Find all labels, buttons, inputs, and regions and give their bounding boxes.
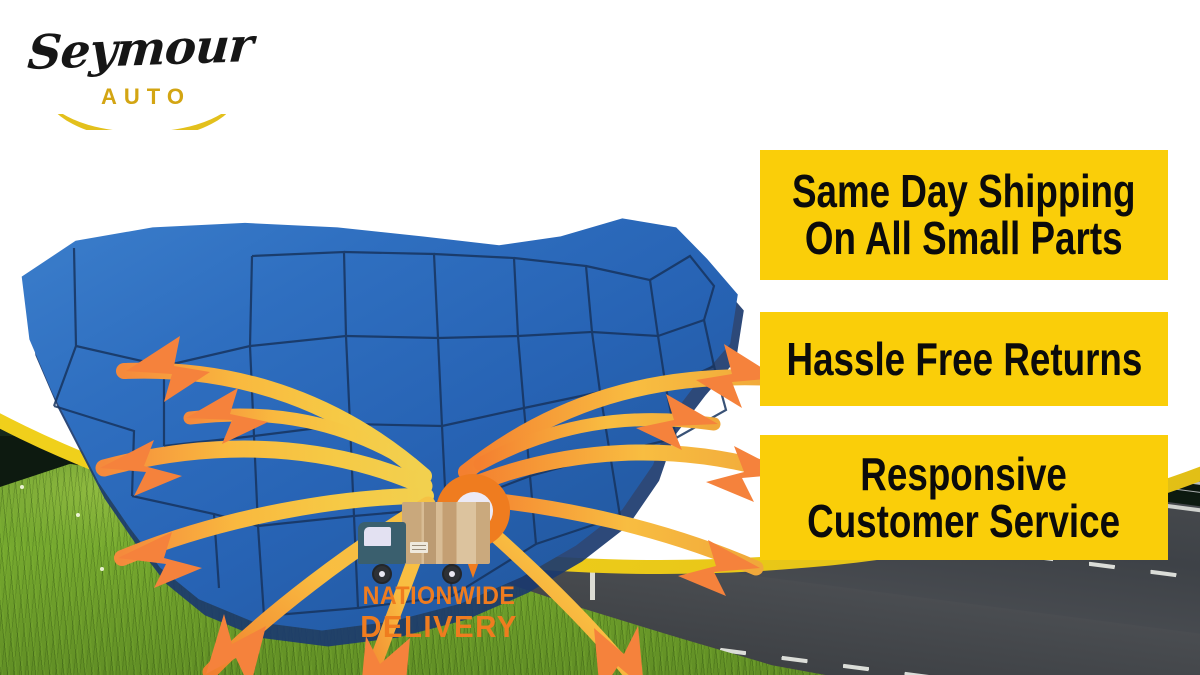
delivery-truck-icon [358, 502, 490, 578]
feature-1-line-2: On All Small Parts [792, 215, 1136, 262]
feature-2-line-1: Hassle Free Returns [786, 336, 1142, 383]
feature-banner-responsive-customer-service[interactable]: Responsive Customer Service [760, 435, 1168, 560]
feature-banner-same-day-shipping[interactable]: Same Day Shipping On All Small Parts [760, 150, 1168, 280]
seymour-auto-logo[interactable]: Seymour AUTO [26, 22, 236, 118]
feature-1-line-1: Same Day Shipping [792, 168, 1136, 215]
logo-subtitle: AUTO [101, 84, 191, 110]
callout-line-2: DELIVERY [349, 611, 530, 642]
feature-3-line-2: Customer Service [808, 498, 1121, 545]
promotional-banner: Seymour AUTO [0, 0, 1200, 675]
nationwide-delivery-callout: NATIONWIDE DELIVERY [344, 472, 534, 652]
feature-3-line-1: Responsive [808, 451, 1121, 498]
callout-line-1: NATIONWIDE [351, 584, 528, 609]
feature-banner-hassle-free-returns[interactable]: Hassle Free Returns [760, 312, 1168, 406]
usa-map-graphic: NATIONWIDE DELIVERY [14, 196, 804, 666]
logo-swoosh-icon [54, 114, 226, 130]
logo-wordmark: Seymour [26, 18, 255, 81]
